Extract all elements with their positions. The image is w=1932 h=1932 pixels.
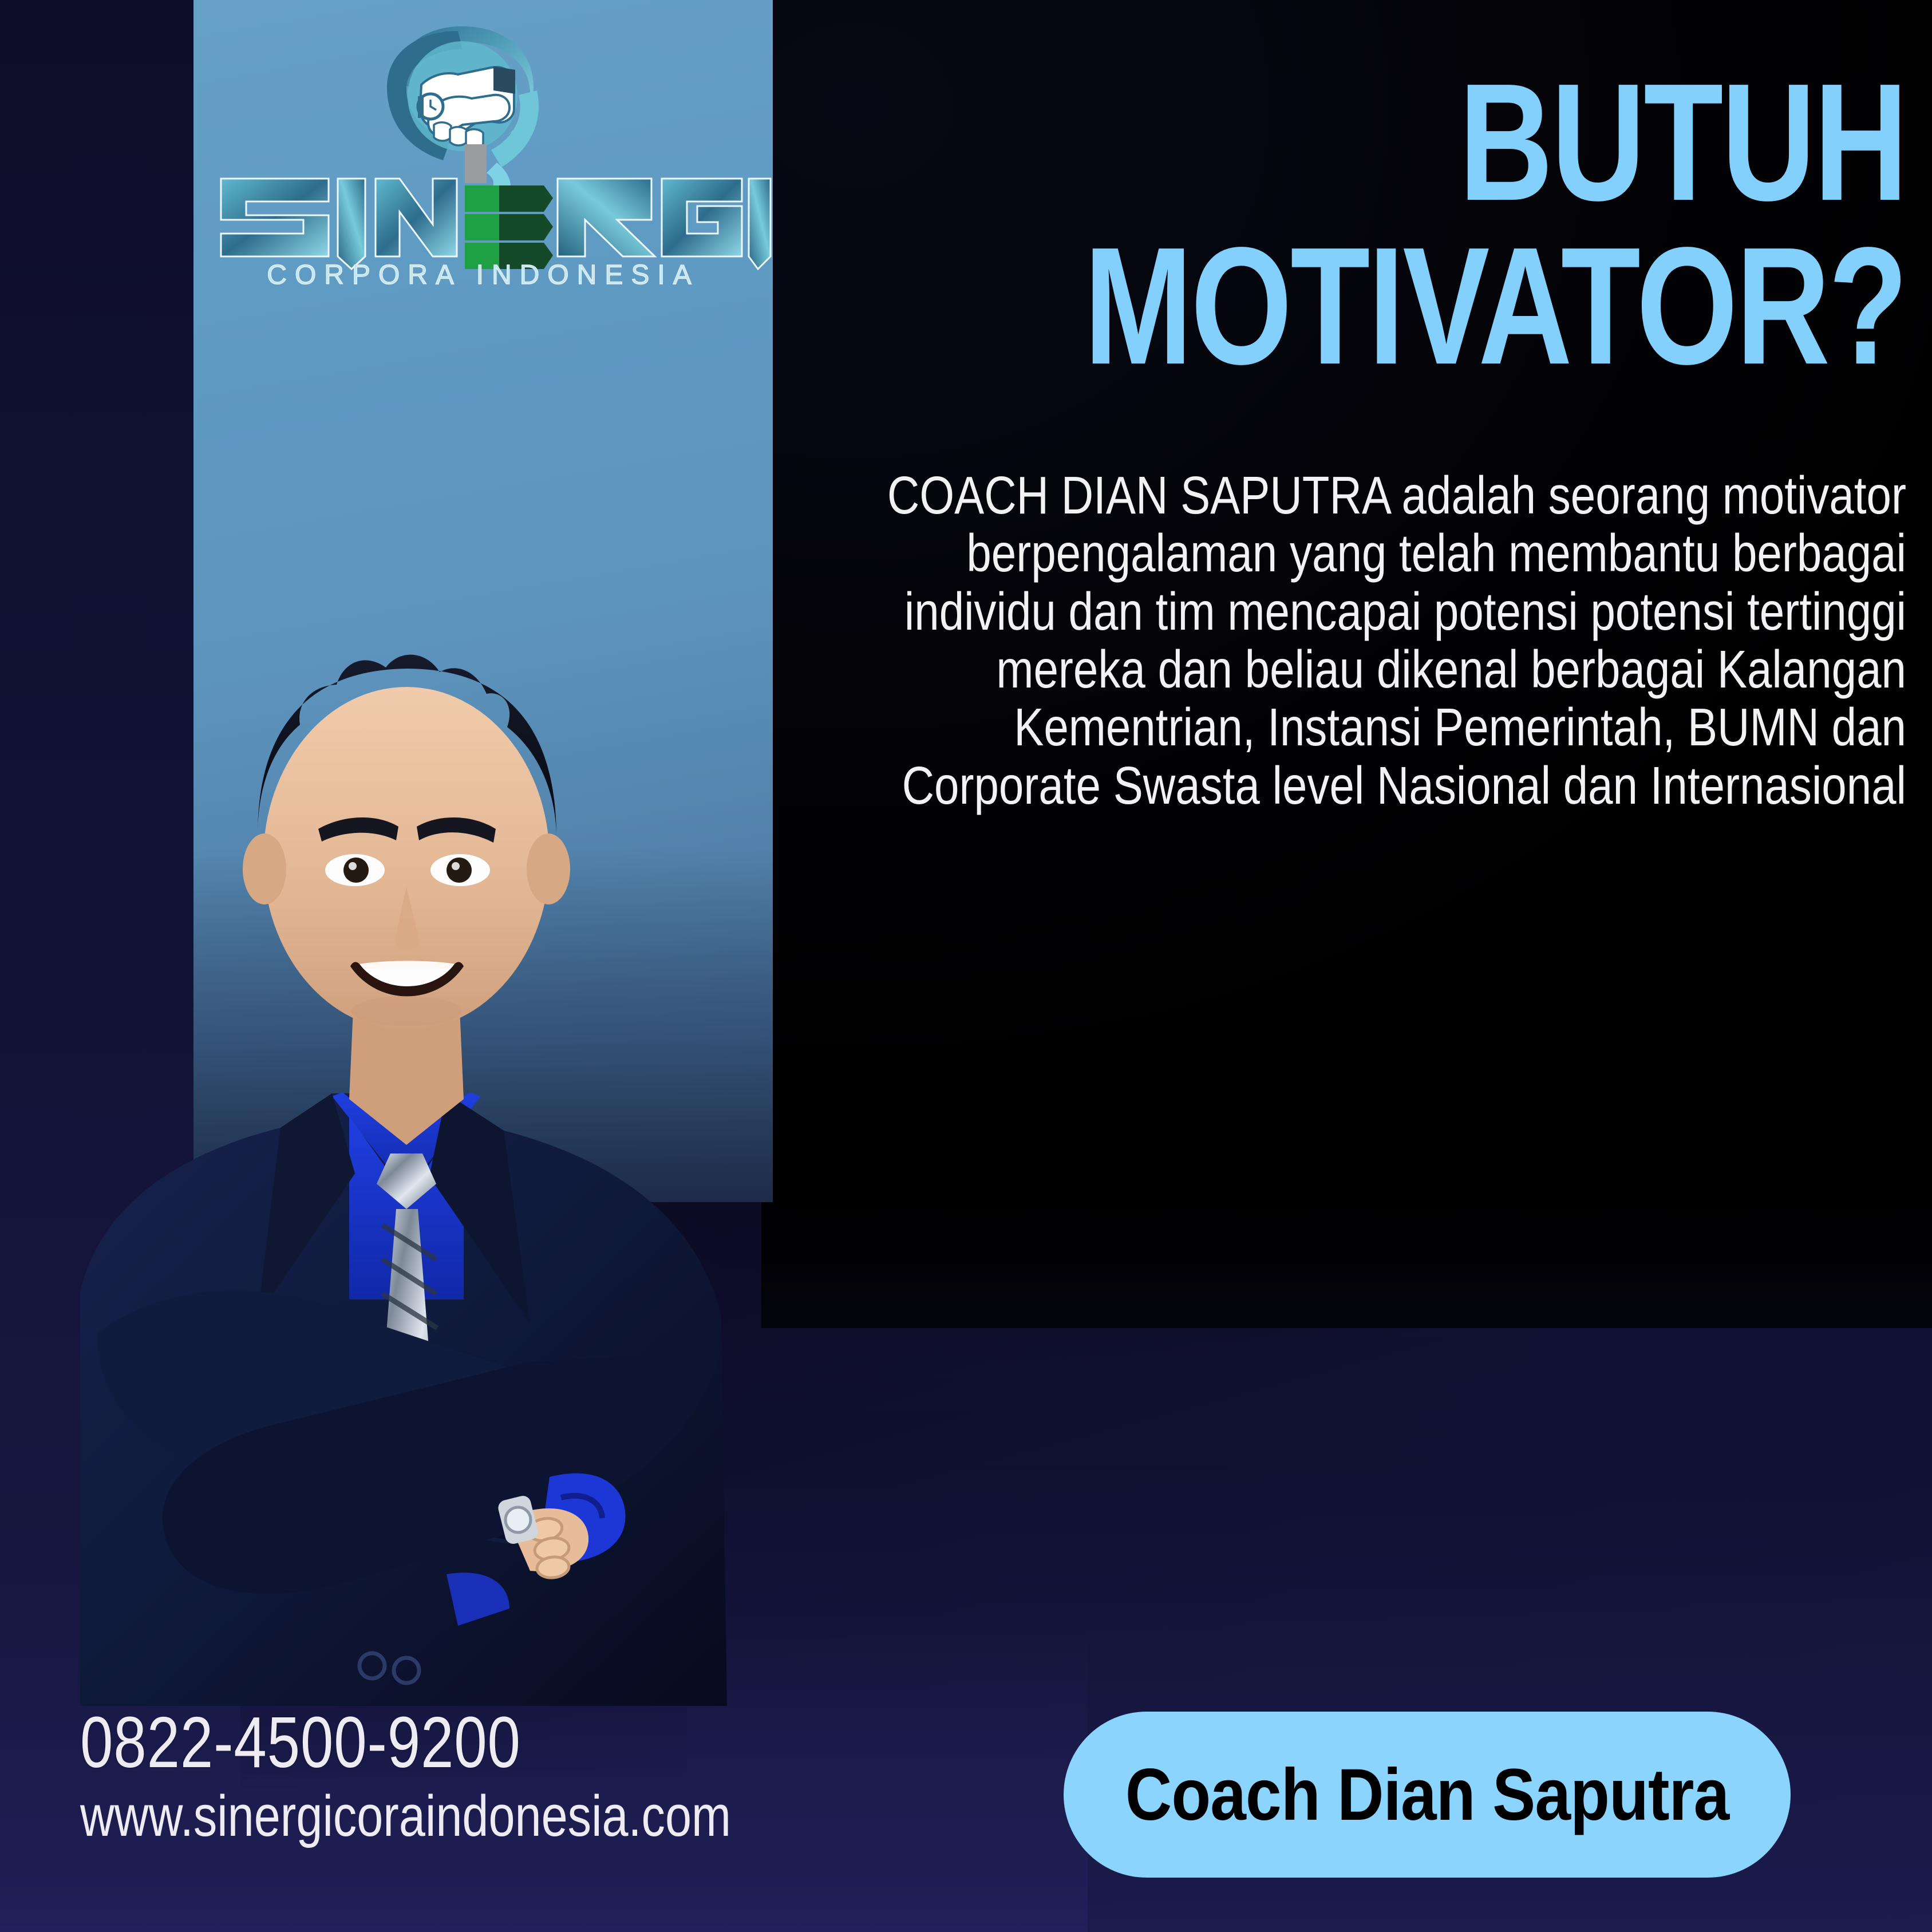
brand-logo: CORPORA INDONESIA bbox=[193, 23, 773, 298]
logo-tagline-text: CORPORA INDONESIA bbox=[267, 260, 699, 290]
headline-line-1: BUTUH bbox=[897, 60, 1906, 224]
coach-name-badge[interactable]: Coach Dian Saputra bbox=[1064, 1712, 1791, 1878]
website-url[interactable]: www.sinergicoraindonesia.com bbox=[80, 1784, 731, 1849]
handshake-icon bbox=[387, 26, 539, 207]
coach-name-label: Coach Dian Saputra bbox=[1125, 1753, 1729, 1837]
phone-number[interactable]: 0822-4500-9200 bbox=[80, 1705, 731, 1780]
logo-wordmark bbox=[221, 144, 771, 269]
description-paragraph: COACH DIAN SAPUTRA adalah seorang motiva… bbox=[829, 467, 1906, 815]
headline-line-2: MOTIVATOR? bbox=[897, 224, 1906, 388]
page-title: BUTUH MOTIVATOR? bbox=[897, 60, 1906, 388]
contact-block: 0822-4500-9200 www.sinergicoraindonesia.… bbox=[80, 1705, 731, 1849]
poster-canvas: CORPORA INDONESIA bbox=[0, 0, 1932, 1932]
